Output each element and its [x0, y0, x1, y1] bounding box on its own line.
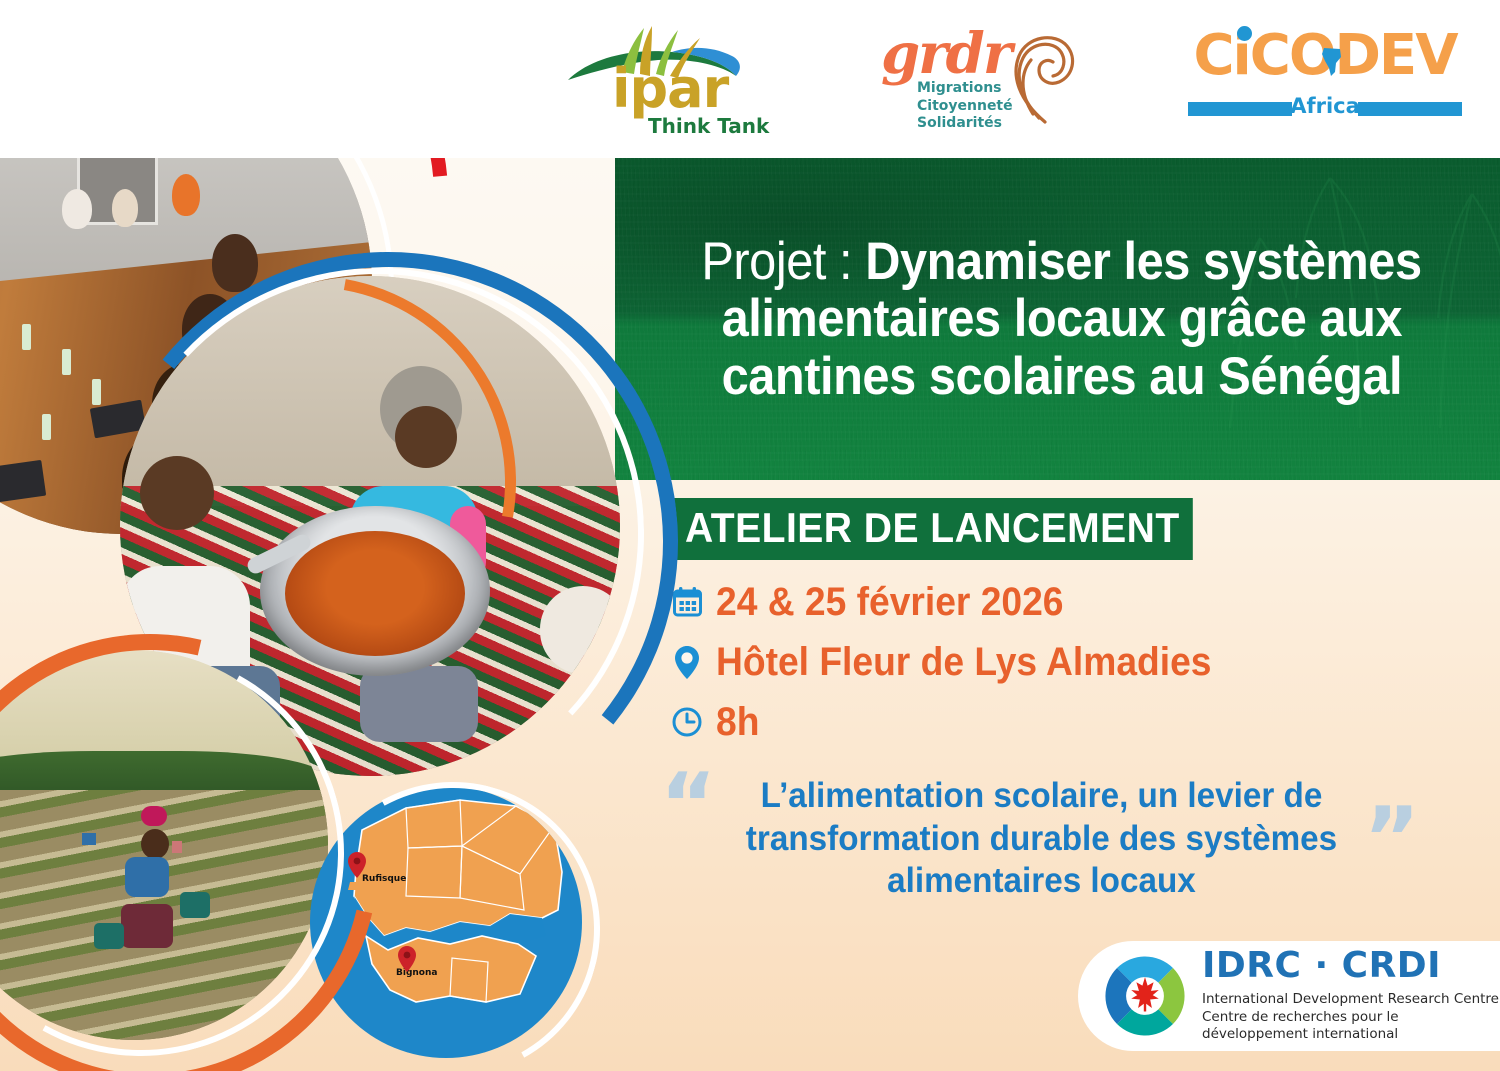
quote-line-3: alimentaires locaux [738, 860, 1343, 903]
africa-continent-icon [1319, 46, 1345, 78]
event-date-text: 24 & 25 février 2026 [716, 582, 1063, 622]
event-row-date: 24 & 25 février 2026 [672, 576, 1372, 628]
title-line-2: alimentaires locaux grâce aux [721, 290, 1401, 347]
cicodev-logo[interactable]: CiCODEV Africa [1180, 24, 1470, 134]
grdr-logo[interactable]: grdr Migrations Citoyenneté Solidarités [875, 24, 1075, 134]
idrc-logo[interactable]: IDRC · CRDI International Development Re… [1078, 941, 1500, 1051]
quote-line-2: transformation durable des systèmes [738, 818, 1343, 861]
quote-text: L’alimentation scolaire, un levier de tr… [738, 775, 1343, 903]
cicodev-dot-icon [1237, 26, 1252, 41]
ipar-tagline: Think Tank [648, 116, 769, 136]
idrc-subtitle-en: International Development Research Centr… [1202, 991, 1500, 1009]
quote-open-icon: “ [660, 775, 717, 837]
event-row-location: Hôtel Fleur de Lys Almadies [672, 636, 1372, 688]
grdr-subtitle: Migrations Citoyenneté Solidarités [917, 80, 1013, 133]
event-row-time: 8h [672, 696, 1372, 748]
title-block: Projet : Dynamiser les systèmes alimenta… [615, 158, 1500, 480]
quote-line-1: L’alimentation scolaire, un levier de [738, 775, 1343, 818]
event-badge: ATELIER DE LANCEMENT [672, 498, 1193, 560]
event-time-text: 8h [716, 702, 759, 742]
calendar-icon [672, 586, 702, 618]
event-location-text: Hôtel Fleur de Lys Almadies [716, 642, 1211, 682]
idrc-title: IDRC · CRDI [1202, 948, 1500, 984]
quote-close-icon: ” [1363, 809, 1420, 871]
grdr-sub-line2: Citoyenneté [917, 98, 1013, 116]
idrc-mark-icon [1102, 953, 1188, 1039]
title-line-3: cantines scolaires au Sénégal [721, 348, 1401, 405]
grdr-sub-line1: Migrations [917, 80, 1013, 98]
grdr-spiral-icon [1005, 30, 1075, 126]
ipar-logo[interactable]: ipar Think Tank [560, 24, 770, 134]
event-details: ATELIER DE LANCEMENT 24 & 25 f [672, 498, 1372, 756]
partner-logo-row: ipar Think Tank grdr Migrations Citoyenn… [540, 0, 1500, 158]
title-banner: Projet : Dynamiser les systèmes alimenta… [615, 158, 1500, 480]
title-bold-1: Dynamiser les systèmes [865, 232, 1421, 291]
grdr-wordmark: grdr [881, 26, 1010, 82]
project-label: Projet : [701, 232, 852, 291]
clock-icon [672, 706, 702, 738]
idrc-subtitle-fr: Centre de recherches pour le développeme… [1202, 1009, 1500, 1045]
location-pin-icon [672, 646, 702, 678]
title-line-1: Projet : Dynamiser les systèmes [701, 233, 1421, 290]
event-meta-list: 24 & 25 février 2026 Hôtel Fleur de Lys … [672, 576, 1372, 748]
ipar-wordmark: ipar [612, 62, 728, 116]
idrc-text: IDRC · CRDI International Development Re… [1202, 948, 1500, 1044]
grdr-sub-line3: Solidarités [917, 115, 1013, 133]
cicodev-region: Africa [1180, 96, 1470, 117]
poster-canvas: Rufisque Bignona [0, 0, 1500, 1071]
quote-block: “ L’alimentation scolaire, un levier de … [660, 775, 1420, 903]
